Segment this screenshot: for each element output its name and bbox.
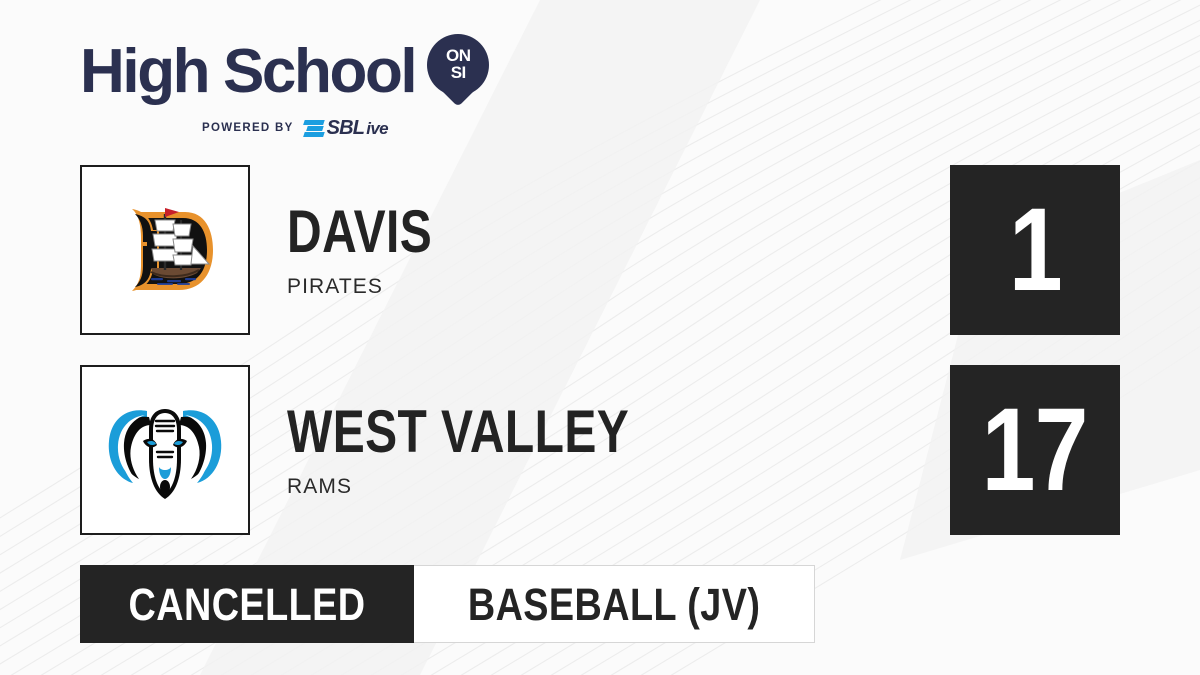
team-info: WEST VALLEY RAMS	[287, 402, 715, 499]
pin-label-si: SI	[451, 65, 466, 82]
team-info: DAVIS PIRATES	[287, 202, 468, 299]
sblive-logo: SBL ive	[303, 118, 388, 138]
team-score: 1	[1008, 191, 1061, 309]
team-logo-box	[80, 165, 250, 335]
sblive-suffix: ive	[366, 120, 388, 137]
onsi-pin-icon: ON SI	[427, 34, 489, 110]
status-bar: CANCELLED BASEBALL (JV)	[80, 565, 815, 643]
team-logo-box	[80, 365, 250, 535]
sport-badge: BASEBALL (JV)	[414, 565, 815, 643]
davis-pirates-logo-icon	[105, 190, 225, 310]
west-valley-rams-logo-icon	[103, 395, 227, 505]
team-score-box: 1	[950, 165, 1120, 335]
powered-by-label: POWERED BY	[202, 122, 294, 134]
team-row: DAVIS PIRATES	[80, 165, 468, 335]
powered-by-row: POWERED BY SBL ive	[80, 118, 510, 138]
sblive-main: SBL	[327, 118, 365, 138]
brand-lockup: High School ON SI POWERED BY SBL ive	[80, 34, 510, 138]
team-mascot: PIRATES	[287, 275, 468, 299]
pin-label: ON SI	[427, 34, 489, 96]
team-name: DAVIS	[287, 202, 432, 262]
brand-wordmark: High School	[80, 41, 415, 103]
sport-label: BASEBALL (JV)	[468, 582, 760, 627]
team-mascot: RAMS	[287, 475, 715, 499]
team-score-box: 17	[950, 365, 1120, 535]
brand-row: High School ON SI	[80, 34, 510, 110]
team-score: 17	[982, 391, 1088, 509]
team-row: WEST VALLEY RAMS	[80, 365, 715, 535]
game-status-badge: CANCELLED	[80, 565, 414, 643]
game-status-label: CANCELLED	[129, 582, 366, 627]
team-name: WEST VALLEY	[287, 402, 629, 462]
sblive-mark-icon	[303, 119, 325, 138]
